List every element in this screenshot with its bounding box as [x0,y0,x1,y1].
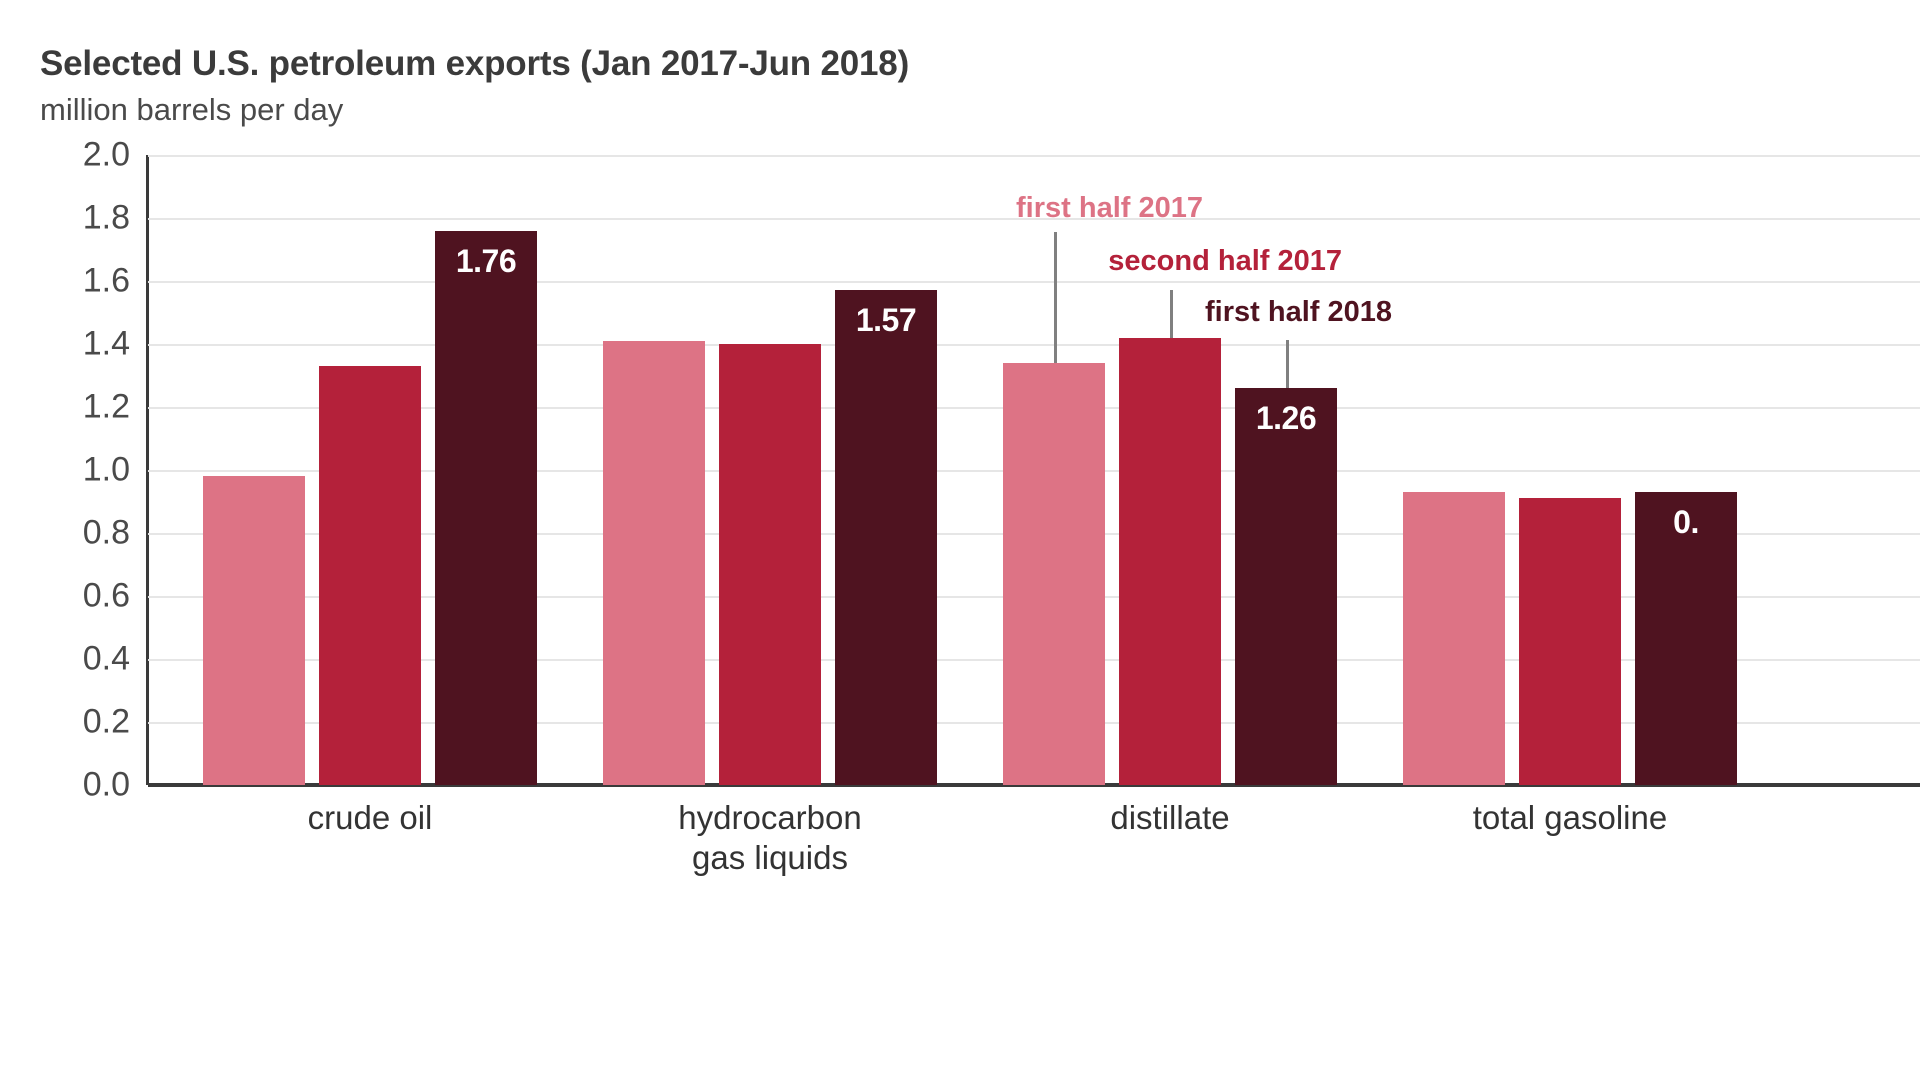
y-axis-tick-label: 2.0 [30,136,130,175]
x-axis-category-label: distillate [970,798,1370,838]
x-axis-category-label-line: crude oil [170,798,570,838]
bar-value-label: 1.76 [435,243,537,280]
bar-value-label: 0. [1635,504,1737,541]
y-axis-tick-label: 0.2 [30,703,130,742]
chart-title: Selected U.S. petroleum exports (Jan 201… [40,44,909,84]
bar [1119,338,1221,785]
series-annotation-label: second half 2017 [1108,245,1342,278]
gridline [148,281,1920,283]
bar [1003,363,1105,785]
series-annotation-label: first half 2017 [1016,192,1203,225]
x-axis-category-label-line: gas liquids [570,838,970,878]
y-axis-tick-label: 1.8 [30,199,130,238]
gridline [148,344,1920,346]
bar [719,344,821,785]
bar-value-label: 1.26 [1235,400,1337,437]
y-axis-tick-label: 0.6 [30,577,130,616]
y-axis-labels: 2.01.81.61.41.21.00.80.60.40.20.0 [0,155,130,785]
bar: 1.57 [835,290,937,785]
x-axis-category-label-line: hydrocarbon [570,798,970,838]
x-axis-category-label: crude oil [170,798,570,838]
series-annotation-label: first half 2018 [1205,296,1392,329]
bar: 0. [1635,492,1737,785]
bar [1519,498,1621,785]
bar [1403,492,1505,785]
y-axis-tick-label: 0.4 [30,640,130,679]
bar [203,476,305,785]
annotation-leader-line [1286,340,1289,388]
chart-subtitle: million barrels per day [40,92,343,128]
bar [319,366,421,785]
y-axis-tick-label: 1.2 [30,388,130,427]
bar: 1.76 [435,231,537,785]
x-axis-category-label-line: distillate [970,798,1370,838]
y-axis-tick-label: 1.6 [30,262,130,301]
chart-page: Selected U.S. petroleum exports (Jan 201… [0,0,1920,1080]
gridline [148,155,1920,157]
bar [603,341,705,785]
x-axis-category-label: total gasoline [1370,798,1770,838]
bar: 1.26 [1235,388,1337,785]
x-axis-category-label: hydrocarbongas liquids [570,798,970,879]
annotation-leader-line [1054,232,1057,363]
y-axis-tick-label: 0.0 [30,766,130,805]
annotation-leader-line [1170,290,1173,338]
y-axis-tick-label: 1.4 [30,325,130,364]
y-axis-tick-label: 1.0 [30,451,130,490]
x-axis-category-label-line: total gasoline [1370,798,1770,838]
y-axis-tick-label: 0.8 [30,514,130,553]
bar-value-label: 1.57 [835,302,937,339]
plot-area: 1.761.571.260. [148,155,1920,785]
